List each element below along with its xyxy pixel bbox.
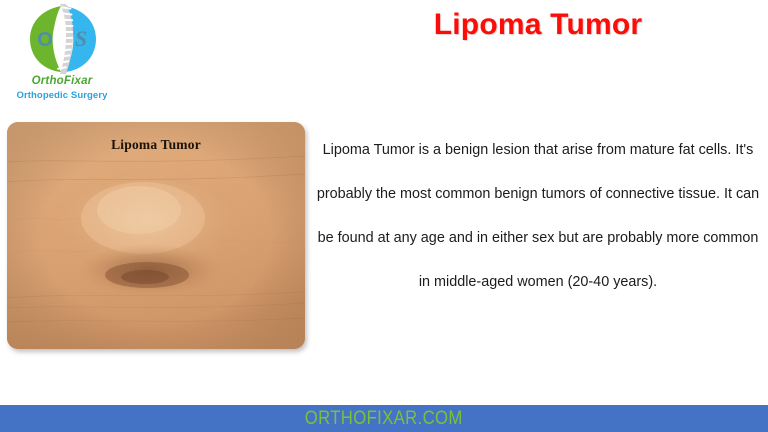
brand-name: OrthoFixar bbox=[6, 75, 118, 87]
photo-caption: Lipoma Tumor bbox=[7, 137, 305, 153]
brand-logo[interactable]: O S OrthoFixar Orthopedic Surgery bbox=[6, 4, 118, 106]
description-paragraph: Lipoma Tumor is a benign lesion that ari… bbox=[316, 128, 760, 304]
lipoma-tumor-photo: Lipoma Tumor bbox=[7, 122, 305, 349]
logo-letter-s: S bbox=[75, 26, 87, 51]
logo-letter-o: O bbox=[37, 29, 53, 51]
orthofixar-spine-leaf-logo-icon: O S bbox=[20, 4, 104, 74]
footer-bar: ORTHOFIXAR.COM bbox=[0, 405, 768, 432]
brand-tagline: Orthopedic Surgery bbox=[6, 90, 118, 101]
page-title: Lipoma Tumor bbox=[318, 8, 758, 42]
footer-website-text: ORTHOFIXAR.COM bbox=[305, 408, 463, 430]
